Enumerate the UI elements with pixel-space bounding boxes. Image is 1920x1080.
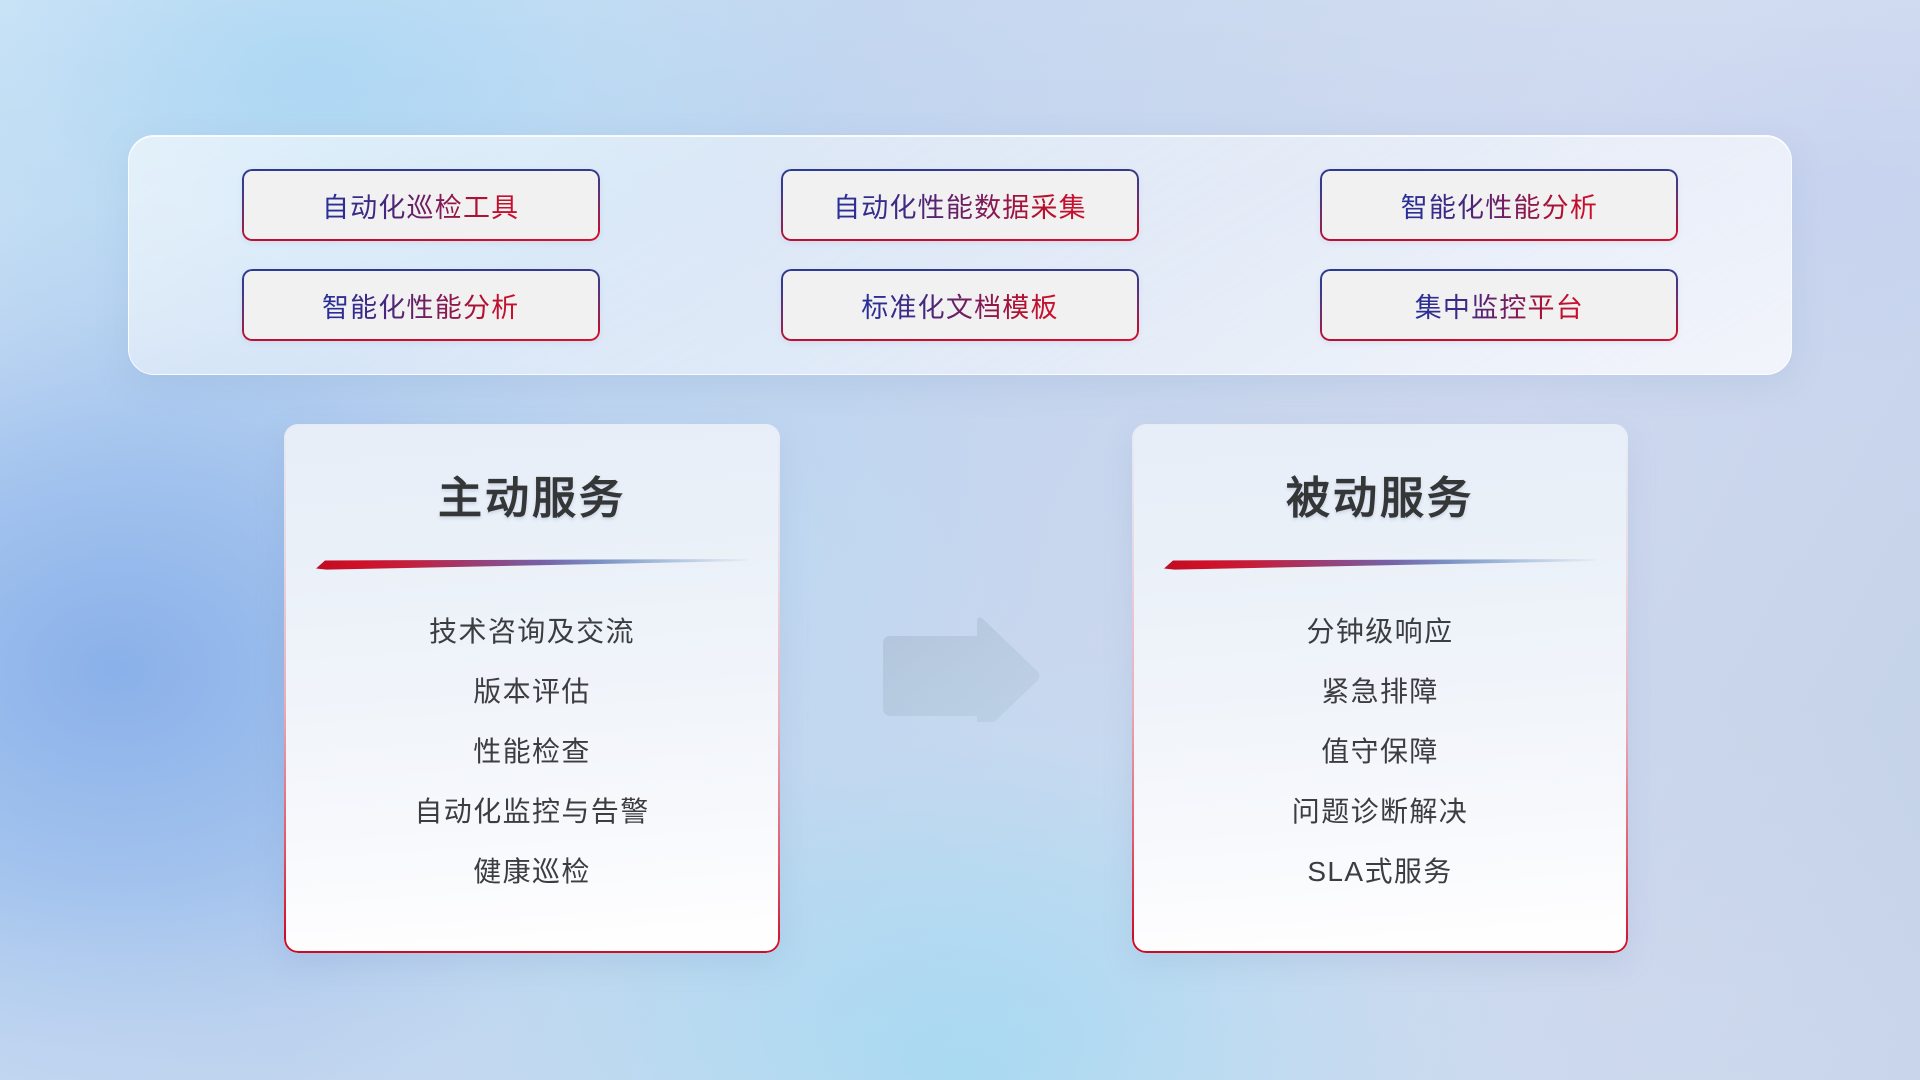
capability-tag-label: 智能化性能分析 [1401,186,1598,225]
slide-canvas: 自动化巡检工具 自动化性能数据采集 智能化性能分析 智能化性能分析 标准化文档模… [0,0,1920,1080]
capability-tag-label: 标准化文档模板 [861,286,1058,325]
capability-tag-panel: 自动化巡检工具 自动化性能数据采集 智能化性能分析 智能化性能分析 标准化文档模… [128,135,1792,375]
capability-tag-label: 智能化性能分析 [322,286,519,325]
service-item: SLA式服务 [1158,842,1602,902]
service-item: 紧急排障 [1158,662,1602,722]
card-title: 被动服务 [1132,462,1628,526]
service-item: 性能检查 [310,722,754,782]
capability-tag-label: 自动化性能数据采集 [833,186,1087,225]
service-item: 分钟级响应 [1158,602,1602,662]
card-title: 主动服务 [284,462,780,526]
service-item: 自动化监控与告警 [310,782,754,842]
service-card-proactive: 主动服务 [284,424,780,953]
capability-tag[interactable]: 标准化文档模板 [781,269,1139,341]
gradient-divider-icon [1164,556,1596,570]
service-item-list: 分钟级响应 紧急排障 值守保障 问题诊断解决 SLA式服务 [1132,602,1628,902]
service-item-list: 技术咨询及交流 版本评估 性能检查 自动化监控与告警 健康巡检 [284,602,780,902]
service-item: 版本评估 [310,662,754,722]
capability-tag[interactable]: 智能化性能分析 [242,269,600,341]
capability-tag[interactable]: 自动化巡检工具 [242,169,600,241]
service-item: 健康巡检 [310,842,754,902]
service-item: 问题诊断解决 [1158,782,1602,842]
arrow-right-icon [875,614,1045,722]
service-item: 值守保障 [1158,722,1602,782]
service-item: 技术咨询及交流 [310,602,754,662]
capability-tag[interactable]: 自动化性能数据采集 [781,169,1139,241]
capability-tag-label: 自动化巡检工具 [322,186,519,225]
capability-tag[interactable]: 集中监控平台 [1320,269,1678,341]
capability-tag-label: 集中监控平台 [1415,286,1584,325]
gradient-divider-icon [316,556,748,570]
service-card-reactive: 被动服务 [1132,424,1628,953]
capability-tag[interactable]: 智能化性能分析 [1320,169,1678,241]
